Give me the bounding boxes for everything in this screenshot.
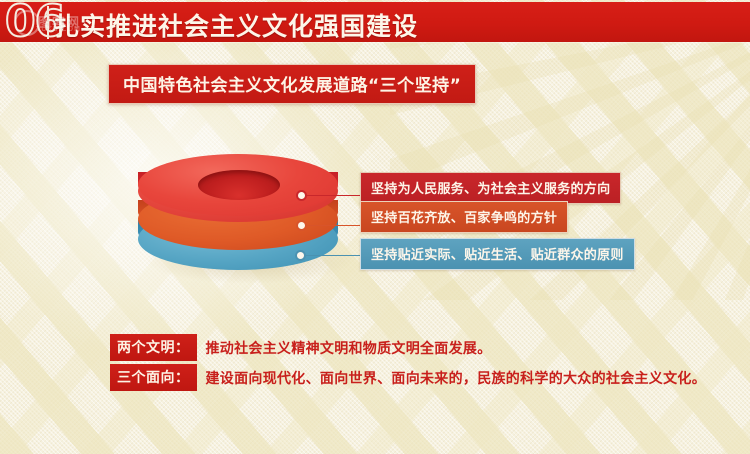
title-bar: 06 扎实推进社会主义文化强国建设 [0, 2, 750, 42]
callout-blue-label: 坚持贴近实际、贴近生活、贴近群众的原则 [371, 248, 624, 263]
note-1-tag: 两个文明： [110, 334, 197, 361]
note-two-civilizations: 两个文明： 推动社会主义精神文明和物质文明全面发展。 [110, 334, 492, 361]
note-2-body: 建设面向现代化、面向世界、面向未来的，民族的科学的大众的社会主义文化。 [206, 368, 707, 388]
title-divider [47, 6, 49, 39]
page-title: 扎实推进社会主义文化强国建设 [54, 7, 418, 43]
connector-line-3 [306, 255, 364, 256]
disc-center-hole [198, 170, 280, 200]
connector-dot-3 [295, 250, 306, 261]
callout-red[interactable]: 坚持为人民服务、为社会主义服务的方向 [360, 172, 621, 204]
three-layer-disc-graphic [138, 126, 358, 291]
subtitle-banner: 中国特色社会主义文化发展道路“三个坚持” [108, 64, 476, 104]
slide-canvas: 06 扎实推进社会主义文化强国建设 图客网 TUKE.COM.CN 中国特色社会… [0, 0, 750, 454]
callout-red-label: 坚持为人民服务、为社会主义服务的方向 [371, 182, 610, 197]
subtitle-text: 中国特色社会主义文化发展道路“三个坚持” [123, 76, 461, 96]
connector-line-2 [307, 225, 363, 226]
callout-orange-label: 坚持百花齐放、百家争鸣的方针 [371, 211, 557, 226]
note-1-body: 推动社会主义精神文明和物质文明全面发展。 [206, 338, 492, 358]
connector-dot-1 [296, 190, 307, 201]
connector-line-1 [307, 195, 363, 196]
note-three-orientations: 三个面向： 建设面向现代化、面向世界、面向未来的，民族的科学的大众的社会主义文化… [110, 364, 706, 391]
callout-blue[interactable]: 坚持贴近实际、贴近生活、贴近群众的原则 [360, 238, 635, 270]
note-2-tag: 三个面向： [110, 364, 197, 391]
callout-orange[interactable]: 坚持百花齐放、百家争鸣的方针 [360, 201, 568, 233]
connector-dot-2 [296, 220, 307, 231]
disc-top-face [138, 154, 338, 216]
